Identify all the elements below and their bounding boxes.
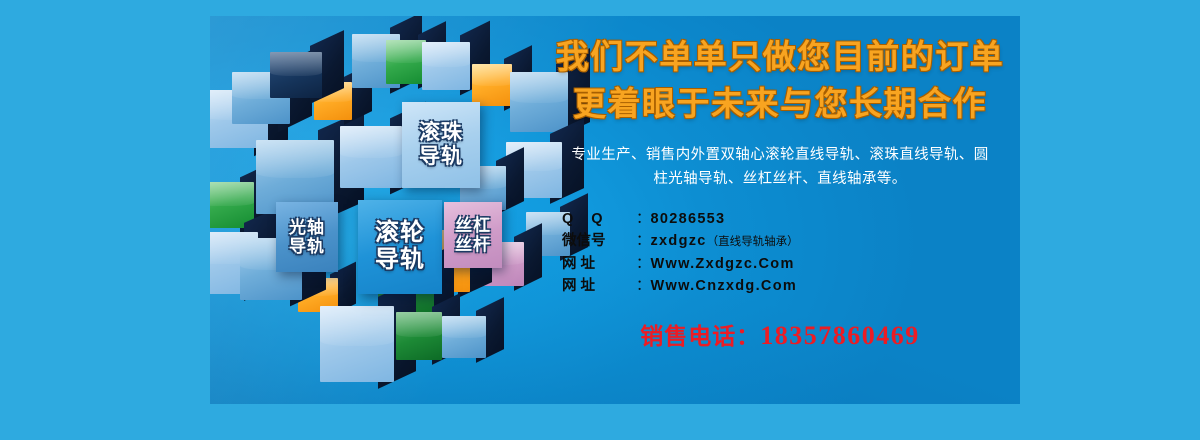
cube-decor — [340, 126, 402, 188]
contact-row-wechat: 微信号 ： zxdgzc （直线导轨轴承） — [562, 230, 1010, 252]
contact-separator: ： — [636, 275, 651, 297]
wechat-note: （直线导轨轴承） — [707, 234, 799, 251]
website-url-1[interactable]: Www.Zxdgzc.Com — [651, 253, 795, 275]
cube-decor — [320, 306, 394, 382]
contact-key: 网 址 — [562, 275, 636, 297]
product-label-line2: 导轨 — [375, 247, 425, 274]
headline-line-2: 更着眼于未来与您长期合作 — [550, 83, 1010, 125]
cube-decor — [386, 40, 426, 84]
product-label-line1: 丝杠 — [455, 216, 491, 235]
website-url-2[interactable]: Www.Cnzxdg.Com — [651, 275, 798, 297]
contact-key: 微信号 — [562, 230, 636, 252]
contact-separator: ： — [636, 208, 651, 230]
product-label-ball-guide-rail[interactable]: 滚珠 导轨 — [402, 102, 480, 188]
product-label-line1: 滚珠 — [419, 121, 463, 145]
banner-page: 滚珠 导轨 光轴 导轨 滚轮 导轨 丝杠 丝杆 — [0, 0, 1200, 440]
product-label-optical-axis-guide-rail[interactable]: 光轴 导轨 — [276, 202, 338, 272]
cube-decor — [270, 52, 322, 98]
sales-phone-number[interactable]: 18357860469 — [760, 321, 920, 350]
contact-row-qq: Q Q ： 80286553 — [562, 208, 1010, 230]
headline-line-1: 我们不单单只做您目前的订单 — [550, 36, 1010, 78]
banner-copy-column: 我们不单单只做您目前的订单 更着眼于未来与您长期合作 专业生产、销售内外置双轴心… — [550, 36, 1010, 396]
description-text: 专业生产、销售内外置双轴心滚轮直线导轨、滚珠直线导轨、圆柱光轴导轨、丝杠丝杆、直… — [550, 144, 1010, 191]
contact-row-website-2: 网 址 ： Www.Cnzxdg.Com — [562, 275, 1010, 297]
product-label-roller-guide-rail[interactable]: 滚轮 导轨 — [358, 200, 442, 294]
promo-banner: 滚珠 导轨 光轴 导轨 滚轮 导轨 丝杠 丝杆 — [210, 16, 1020, 404]
contact-key: Q Q — [562, 208, 636, 230]
product-label-lead-screw[interactable]: 丝杠 丝杆 — [444, 202, 502, 268]
cube-decor — [422, 42, 470, 90]
product-label-line2: 丝杆 — [455, 235, 491, 254]
contact-separator: ： — [636, 230, 651, 252]
contact-separator: ： — [636, 253, 651, 275]
sales-phone: 销售电话：18357860469 — [550, 317, 1010, 351]
wechat-id[interactable]: zxdgzc — [651, 230, 707, 252]
cube-decor — [472, 64, 512, 106]
sales-phone-label: 销售电话： — [640, 323, 760, 349]
contact-block: Q Q ： 80286553 微信号 ： zxdgzc （直线导轨轴承） 网 址… — [550, 208, 1010, 296]
cube-decor — [442, 316, 486, 358]
product-label-line2: 导轨 — [419, 145, 463, 169]
contact-key: 网 址 — [562, 253, 636, 275]
contact-row-website-1: 网 址 ： Www.Zxdgzc.Com — [562, 253, 1010, 275]
cube-decor — [396, 312, 442, 360]
product-label-line1: 滚轮 — [375, 220, 425, 247]
product-label-line2: 导轨 — [289, 237, 325, 256]
qq-number[interactable]: 80286553 — [651, 208, 726, 230]
product-label-line1: 光轴 — [289, 218, 325, 237]
